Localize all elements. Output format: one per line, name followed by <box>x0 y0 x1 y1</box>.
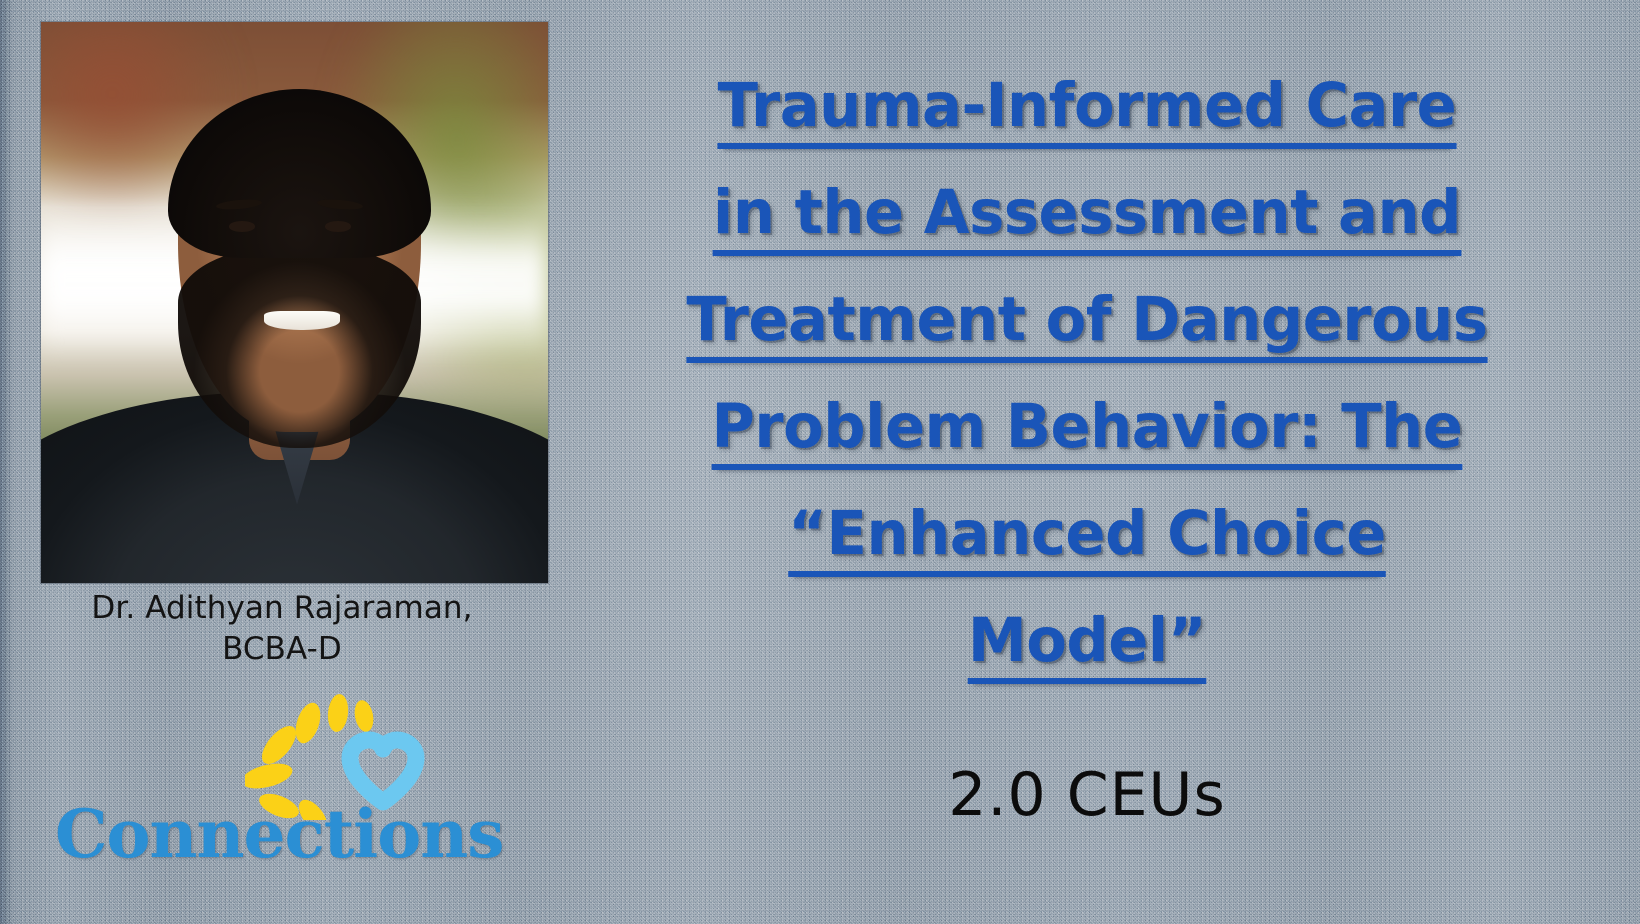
speaker-photo <box>41 22 548 583</box>
ceu-credits: 2.0 CEUs <box>556 760 1618 830</box>
title-line-2: in the Assessment and <box>572 159 1602 266</box>
photo-eye-left <box>229 221 255 232</box>
photo-smile <box>264 311 340 330</box>
title-line-4: Problem Behavior: The <box>572 373 1602 480</box>
speaker-name: Dr. Adithyan Rajaraman, BCBA-D <box>22 588 542 670</box>
title-line-3: Treatment of Dangerous <box>572 266 1602 373</box>
speaker-name-line-1: Dr. Adithyan Rajaraman, <box>22 588 542 629</box>
photo-eye-right <box>325 221 351 232</box>
title-line-5: “Enhanced Choice <box>572 480 1602 587</box>
title-line-1: Trauma-Informed Care <box>572 52 1602 159</box>
title-line-6: Model” <box>572 587 1602 694</box>
speaker-column: Dr. Adithyan Rajaraman, BCBA-D <box>0 0 560 924</box>
slide-canvas: Dr. Adithyan Rajaraman, BCBA-D <box>0 0 1640 924</box>
speaker-name-line-2: BCBA-D <box>22 629 542 670</box>
connections-logo: Connections <box>55 690 510 905</box>
logo-wordmark: Connections <box>55 798 475 870</box>
presentation-title: Trauma-Informed Care in the Assessment a… <box>556 52 1618 694</box>
